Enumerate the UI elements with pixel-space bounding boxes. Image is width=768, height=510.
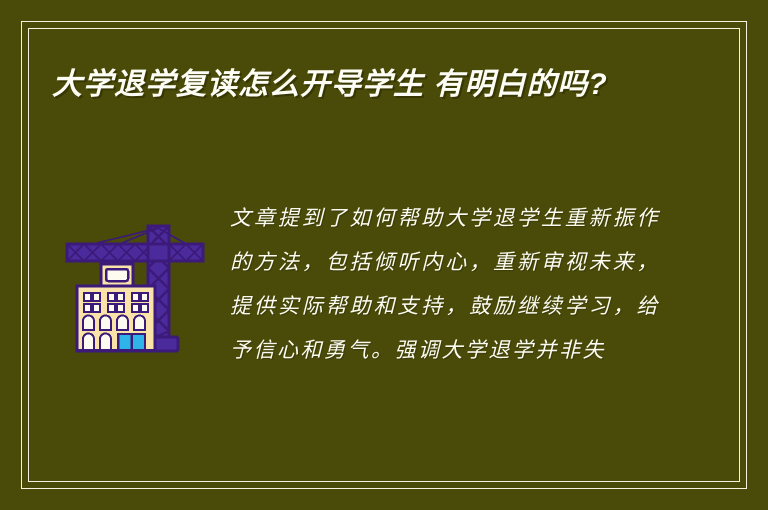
- page-title: 大学退学复读怎么开导学生 有明白的吗?: [52, 62, 724, 107]
- building-doors: [117, 333, 146, 351]
- crane-jib: [67, 244, 203, 261]
- poster-card: 大学退学复读怎么开导学生 有明白的吗?: [0, 0, 768, 510]
- body-paragraph: 文章提到了如何帮助大学退学生重新振作的方法，包括倾听内心，重新审视未来，提供实际…: [230, 196, 660, 372]
- construction-crane-and-building-icon: [55, 202, 220, 367]
- building: [77, 264, 155, 352]
- content-row: 文章提到了如何帮助大学退学生重新振作的方法，包括倾听内心，重新审视未来，提供实际…: [40, 196, 728, 372]
